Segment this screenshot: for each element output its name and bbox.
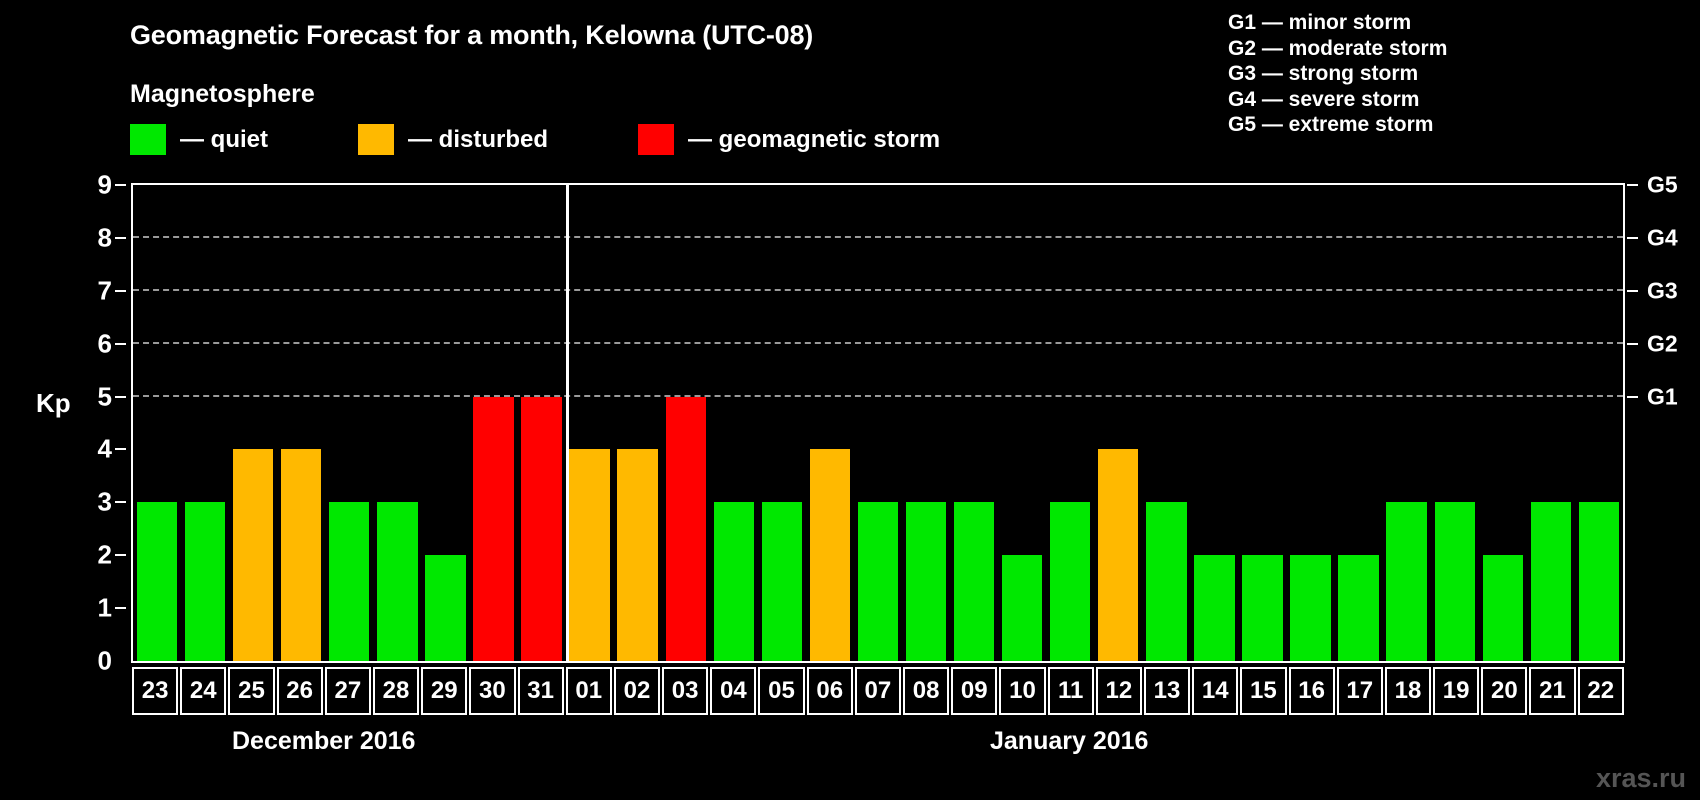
day-label-04[interactable]: 04	[710, 667, 756, 715]
bar-slot[interactable]	[181, 185, 229, 661]
bar-slot[interactable]	[950, 185, 998, 661]
bar-17[interactable]	[1338, 555, 1378, 661]
bar-slot[interactable]	[1094, 185, 1142, 661]
day-label-18[interactable]: 18	[1385, 667, 1431, 715]
bar-slot[interactable]	[469, 185, 517, 661]
day-label-27[interactable]: 27	[325, 667, 371, 715]
legend-item-storm: — geomagnetic storm	[638, 124, 940, 155]
bar-slot[interactable]	[998, 185, 1046, 661]
legend-label-quiet: — quiet	[180, 126, 268, 154]
bar-22[interactable]	[1579, 502, 1619, 661]
y-tick-mark-9	[115, 184, 126, 186]
y-axis-title: Kp	[36, 388, 71, 419]
bar-slot[interactable]	[806, 185, 854, 661]
bar-13[interactable]	[1146, 502, 1186, 661]
day-label-21[interactable]: 21	[1529, 667, 1575, 715]
day-label-08[interactable]: 08	[903, 667, 949, 715]
day-label-19[interactable]: 19	[1433, 667, 1479, 715]
bar-slot[interactable]	[902, 185, 950, 661]
g-tick-mark-g3	[1627, 290, 1638, 292]
g-legend-line-g3: G3 — strong storm	[1228, 61, 1447, 87]
bar-31[interactable]	[521, 397, 561, 661]
bar-24[interactable]	[185, 502, 225, 661]
g-tick-mark-g2	[1627, 343, 1638, 345]
g-tick-label-g1: G1	[1647, 383, 1678, 410]
bar-slot[interactable]	[1383, 185, 1431, 661]
day-label-31[interactable]: 31	[518, 667, 564, 715]
bar-02[interactable]	[617, 449, 657, 661]
legend-label-storm: — geomagnetic storm	[688, 126, 940, 154]
day-label-06[interactable]: 06	[807, 667, 853, 715]
y-tick-label-9: 9	[56, 170, 112, 201]
day-label-23[interactable]: 23	[132, 667, 178, 715]
bar-14[interactable]	[1194, 555, 1234, 661]
legend-label-disturbed: — disturbed	[408, 126, 548, 154]
month-separator	[566, 185, 569, 661]
y-tick-mark-4	[115, 448, 126, 450]
month-label-december: December 2016	[232, 727, 415, 756]
bar-slot[interactable]	[1431, 185, 1479, 661]
bar-slot[interactable]	[854, 185, 902, 661]
legend-item-disturbed: — disturbed	[358, 124, 548, 155]
bar-slot[interactable]	[1479, 185, 1527, 661]
day-label-05[interactable]: 05	[758, 667, 804, 715]
bar-slot[interactable]	[229, 185, 277, 661]
bar-slot[interactable]	[277, 185, 325, 661]
bar-16[interactable]	[1290, 555, 1330, 661]
y-tick-mark-2	[115, 554, 126, 556]
y-axis: 0123456789	[70, 183, 126, 663]
disturbed-swatch-icon	[358, 124, 394, 155]
bar-slot[interactable]	[758, 185, 806, 661]
day-label-30[interactable]: 30	[469, 667, 515, 715]
day-label-03[interactable]: 03	[662, 667, 708, 715]
g-legend-line-g2: G2 — moderate storm	[1228, 36, 1447, 62]
day-label-14[interactable]: 14	[1192, 667, 1238, 715]
bar-08[interactable]	[906, 502, 946, 661]
y-tick-label-3: 3	[56, 487, 112, 518]
day-label-12[interactable]: 12	[1096, 667, 1142, 715]
day-label-24[interactable]: 24	[180, 667, 226, 715]
day-label-20[interactable]: 20	[1481, 667, 1527, 715]
day-label-13[interactable]: 13	[1144, 667, 1190, 715]
y-tick-mark-6	[115, 343, 126, 345]
bar-03[interactable]	[666, 397, 706, 661]
g-tick-label-g3: G3	[1647, 277, 1678, 304]
g-tick-mark-g5	[1627, 184, 1638, 186]
y-tick-label-6: 6	[56, 328, 112, 359]
bar-slot[interactable]	[566, 185, 614, 661]
g-legend-line-g1: G1 — minor storm	[1228, 10, 1447, 36]
bar-slot[interactable]	[1046, 185, 1094, 661]
bar-27[interactable]	[329, 502, 369, 661]
y-tick-mark-5	[115, 396, 126, 398]
plot-inner	[133, 185, 1623, 661]
storm-swatch-icon	[638, 124, 674, 155]
quiet-swatch-icon	[130, 124, 166, 155]
g-tick-mark-g4	[1627, 237, 1638, 239]
day-label-15[interactable]: 15	[1240, 667, 1286, 715]
bar-series	[133, 185, 1623, 661]
bar-slot[interactable]	[421, 185, 469, 661]
page-title: Geomagnetic Forecast for a month, Kelown…	[130, 20, 813, 51]
day-label-28[interactable]: 28	[373, 667, 419, 715]
bar-01[interactable]	[569, 449, 609, 661]
day-label-17[interactable]: 17	[1337, 667, 1383, 715]
bar-slot[interactable]	[518, 185, 566, 661]
bar-06[interactable]	[810, 449, 850, 661]
day-label-10[interactable]: 10	[999, 667, 1045, 715]
y-tick-label-8: 8	[56, 222, 112, 253]
bar-23[interactable]	[137, 502, 177, 661]
bar-10[interactable]	[1002, 555, 1042, 661]
y-tick-mark-1	[115, 607, 126, 609]
legend-item-quiet: — quiet	[130, 124, 268, 155]
g-tick-label-g2: G2	[1647, 330, 1678, 357]
bar-28[interactable]	[377, 502, 417, 661]
bar-slot[interactable]	[1190, 185, 1238, 661]
g-tick-label-g5: G5	[1647, 172, 1678, 199]
day-label-row: 2324252627282930310102030405060708091011…	[131, 667, 1625, 715]
bar-26[interactable]	[281, 449, 321, 661]
g-tick-label-g4: G4	[1647, 224, 1678, 251]
bar-11[interactable]	[1050, 502, 1090, 661]
plot-area	[131, 183, 1625, 663]
bar-29[interactable]	[425, 555, 465, 661]
magnetosphere-label: Magnetosphere	[130, 80, 315, 109]
bar-slot[interactable]	[662, 185, 710, 661]
y-tick-mark-7	[115, 290, 126, 292]
bar-slot[interactable]	[1142, 185, 1190, 661]
bar-12[interactable]	[1098, 449, 1138, 661]
day-label-25[interactable]: 25	[228, 667, 274, 715]
day-label-29[interactable]: 29	[421, 667, 467, 715]
day-label-02[interactable]: 02	[614, 667, 660, 715]
g-scale-legend: G1 — minor storm G2 — moderate storm G3 …	[1228, 10, 1447, 138]
bar-21[interactable]	[1531, 502, 1571, 661]
y-tick-label-4: 4	[56, 434, 112, 465]
y-tick-label-1: 1	[56, 593, 112, 624]
day-label-26[interactable]: 26	[277, 667, 323, 715]
bar-20[interactable]	[1483, 555, 1523, 661]
bar-slot[interactable]	[133, 185, 181, 661]
day-label-16[interactable]: 16	[1289, 667, 1335, 715]
bar-15[interactable]	[1242, 555, 1282, 661]
bar-04[interactable]	[714, 502, 754, 661]
day-label-22[interactable]: 22	[1578, 667, 1624, 715]
bar-slot[interactable]	[1575, 185, 1623, 661]
watermark: xras.ru	[1596, 763, 1686, 794]
bar-07[interactable]	[858, 502, 898, 661]
day-label-09[interactable]: 09	[951, 667, 997, 715]
month-label-january: January 2016	[990, 727, 1148, 756]
day-label-11[interactable]: 11	[1048, 667, 1094, 715]
g-tick-mark-g1	[1627, 396, 1638, 398]
bar-slot[interactable]	[710, 185, 758, 661]
bar-19[interactable]	[1435, 502, 1475, 661]
bar-slot[interactable]	[373, 185, 421, 661]
bar-slot[interactable]	[1287, 185, 1335, 661]
bar-05[interactable]	[762, 502, 802, 661]
color-legend: — quiet — disturbed — geomagnetic storm	[130, 124, 940, 155]
bar-slot[interactable]	[614, 185, 662, 661]
y-tick-label-7: 7	[56, 275, 112, 306]
bar-18[interactable]	[1386, 502, 1426, 661]
day-label-01[interactable]: 01	[566, 667, 612, 715]
day-label-07[interactable]: 07	[855, 667, 901, 715]
bar-09[interactable]	[954, 502, 994, 661]
g-scale-axis: G1G2G3G4G5	[1627, 183, 1697, 663]
bar-25[interactable]	[233, 449, 273, 661]
g-legend-line-g5: G5 — extreme storm	[1228, 112, 1447, 138]
g-legend-line-g4: G4 — severe storm	[1228, 87, 1447, 113]
bar-slot[interactable]	[1527, 185, 1575, 661]
y-tick-label-0: 0	[56, 646, 112, 677]
bar-slot[interactable]	[1335, 185, 1383, 661]
y-tick-label-2: 2	[56, 540, 112, 571]
y-tick-mark-8	[115, 237, 126, 239]
bar-slot[interactable]	[325, 185, 373, 661]
y-tick-mark-3	[115, 501, 126, 503]
bar-slot[interactable]	[1238, 185, 1286, 661]
bar-30[interactable]	[473, 397, 513, 661]
